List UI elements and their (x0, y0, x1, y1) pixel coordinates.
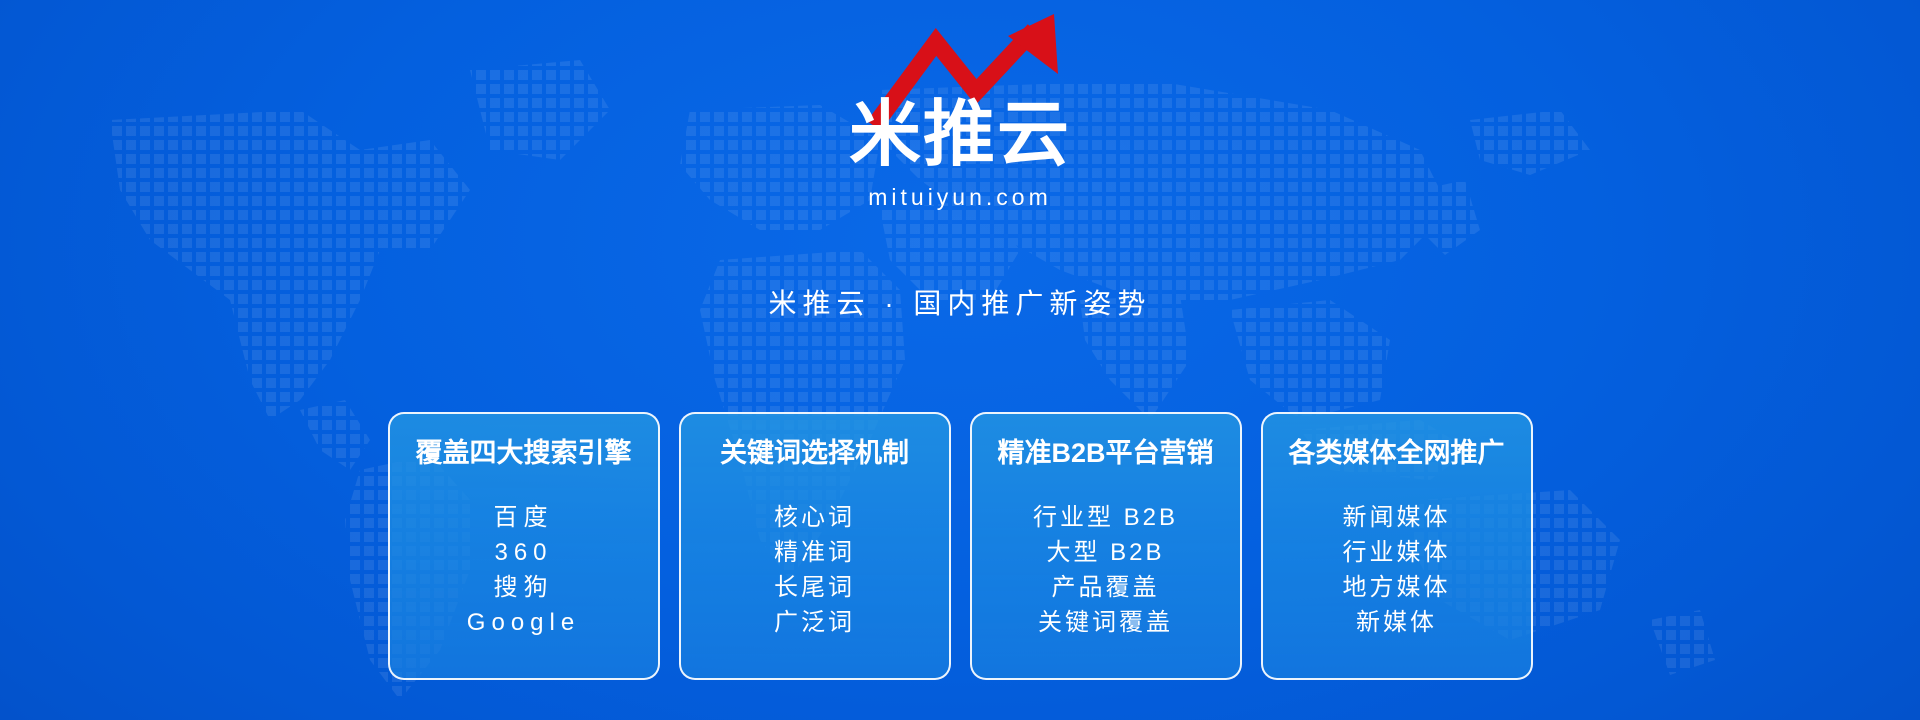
feature-card-item: Google (390, 605, 658, 640)
feature-card[interactable]: 覆盖四大搜索引擎 百度 360 搜狗 Google (388, 412, 660, 680)
logo-wordmark: 米推云 (810, 96, 1110, 174)
feature-card[interactable]: 精准B2B平台营销 行业型 B2B 大型 B2B 产品覆盖 关键词覆盖 (970, 412, 1242, 680)
feature-card-items: 百度 360 搜狗 Google (390, 500, 658, 640)
tagline: 米推云 · 国内推广新姿势 (0, 282, 1920, 322)
feature-card[interactable]: 关键词选择机制 核心词 精准词 长尾词 广泛词 (679, 412, 951, 680)
feature-card-item: 搜狗 (390, 570, 658, 605)
feature-card-item: 百度 (390, 500, 658, 535)
feature-card-item: 长尾词 (681, 570, 949, 605)
feature-card-item: 新闻媒体 (1263, 500, 1531, 535)
feature-card-item: 广泛词 (681, 605, 949, 640)
feature-card-item: 新媒体 (1263, 605, 1531, 640)
logo-mark: 米推云 mituiyun.com (810, 8, 1110, 198)
feature-card-item: 产品覆盖 (972, 570, 1240, 605)
banner-root: 米推云 mituiyun.com 米推云 · 国内推广新姿势 覆盖四大搜索引擎 … (0, 0, 1920, 720)
feature-card-items: 核心词 精准词 长尾词 广泛词 (681, 500, 949, 640)
feature-card[interactable]: 各类媒体全网推广 新闻媒体 行业媒体 地方媒体 新媒体 (1261, 412, 1533, 680)
feature-card-title: 关键词选择机制 (681, 436, 949, 470)
feature-card-item: 大型 B2B (972, 535, 1240, 570)
logo-url: mituiyun.com (810, 184, 1110, 210)
feature-card-title: 各类媒体全网推广 (1263, 436, 1531, 470)
feature-card-item: 行业媒体 (1263, 535, 1531, 570)
feature-card-item: 精准词 (681, 535, 949, 570)
brand-logo: 米推云 mituiyun.com (0, 8, 1920, 203)
feature-card-items: 行业型 B2B 大型 B2B 产品覆盖 关键词覆盖 (972, 500, 1240, 640)
feature-card-item: 360 (390, 535, 658, 570)
feature-card-item: 行业型 B2B (972, 500, 1240, 535)
feature-card-item: 地方媒体 (1263, 570, 1531, 605)
feature-card-items: 新闻媒体 行业媒体 地方媒体 新媒体 (1263, 500, 1531, 640)
feature-card-item: 核心词 (681, 500, 949, 535)
feature-card-item: 关键词覆盖 (972, 605, 1240, 640)
feature-card-title: 精准B2B平台营销 (972, 436, 1240, 470)
feature-card-list: 覆盖四大搜索引擎 百度 360 搜狗 Google 关键词选择机制 核心词 精准… (380, 412, 1540, 680)
feature-card-title: 覆盖四大搜索引擎 (390, 436, 658, 470)
